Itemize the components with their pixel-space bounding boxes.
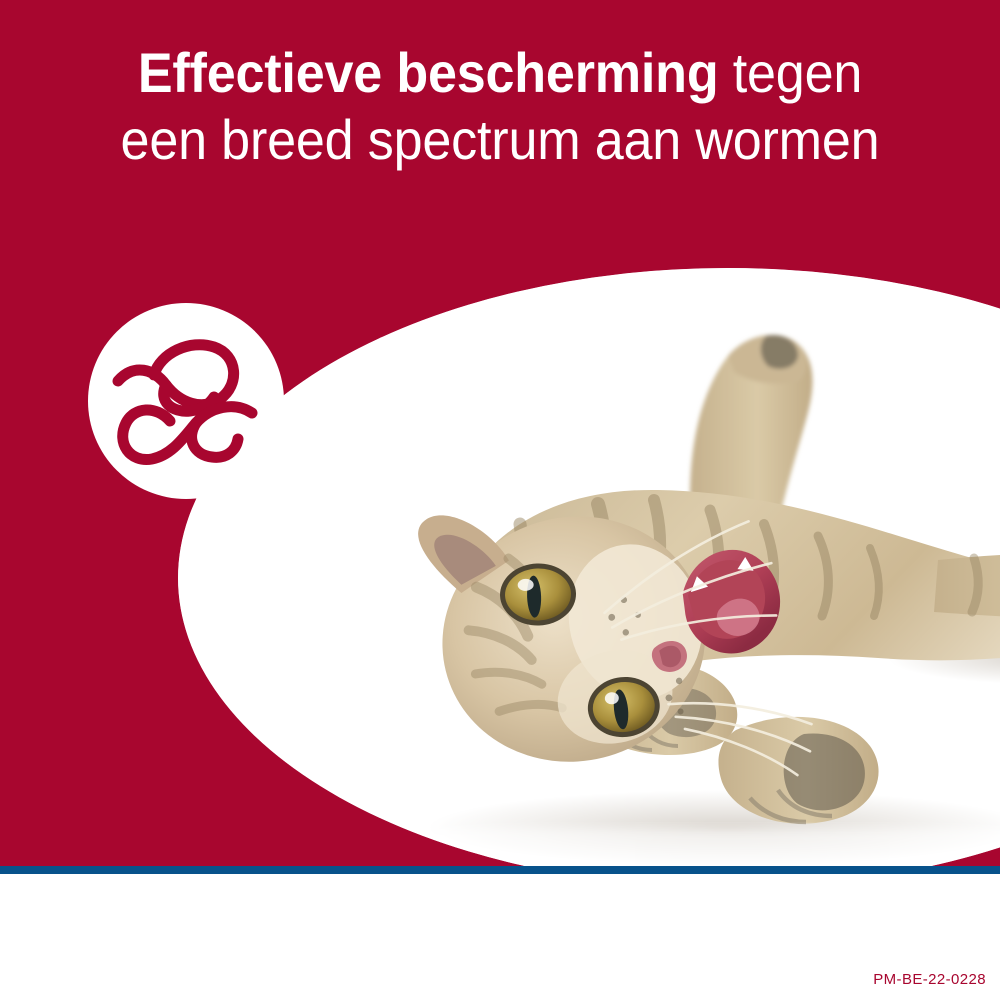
footer: MILBEMAX ® <box>0 874 1000 1000</box>
headline-line-1-rest: tegen <box>718 41 862 104</box>
advertisement-canvas: Effectieve bescherming tegen een breed s… <box>0 0 1000 1000</box>
headline: Effectieve bescherming tegen een breed s… <box>0 44 1000 168</box>
kitten-photo <box>298 328 1000 866</box>
photo-disc <box>178 268 1000 866</box>
headline-line-1: Effectieve bescherming tegen <box>35 44 965 101</box>
worms-icon <box>110 329 262 473</box>
worms-badge <box>88 303 284 499</box>
reference-code: PM-BE-22-0228 <box>873 971 986 988</box>
headline-emphasis: Effectieve bescherming <box>138 41 719 104</box>
blue-divider <box>0 866 1000 874</box>
hero-panel: Effectieve bescherming tegen een breed s… <box>0 0 1000 866</box>
headline-line-2: een breed spectrum aan wormen <box>35 111 965 168</box>
